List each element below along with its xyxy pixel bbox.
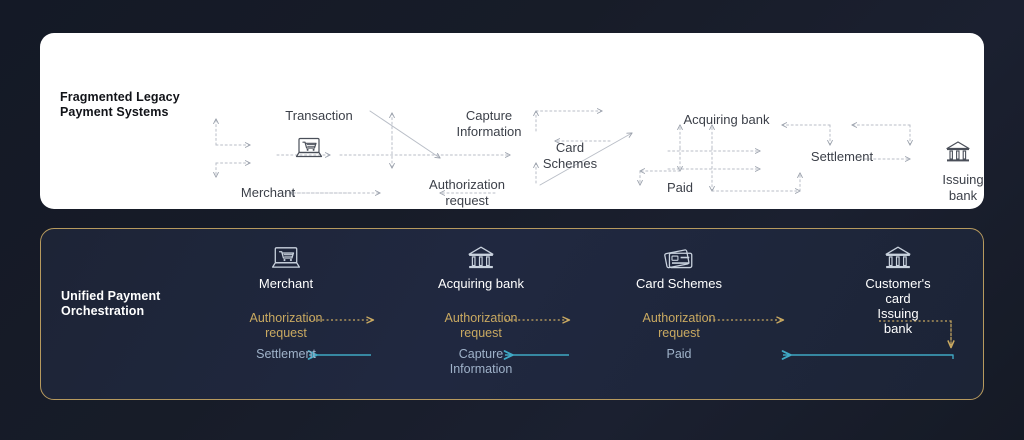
unified-orchestration-panel: Unified Payment Orchestration (40, 228, 984, 400)
unified-column-card-schemes: Card Schemes (604, 241, 754, 291)
unified-label-card-schemes: Card Schemes (604, 276, 754, 291)
unified-column-merchant: Merchant (211, 241, 361, 291)
diagram-canvas: Fragmented Legacy Payment Systems (0, 0, 1024, 440)
legacy-node-acquiring-bank: Acquiring bank (669, 112, 784, 128)
cards-icon (604, 241, 754, 271)
unified-column-issuing-bank: Customer's card Issuing bank (823, 241, 973, 336)
unified-column-acquiring-bank: Acquiring bank (406, 241, 556, 291)
legacy-node-card-schemes: Card Schemes (530, 140, 610, 171)
unified-return-card-schemes: Paid (604, 347, 754, 362)
unified-forward-card-schemes: Authorization request (604, 311, 754, 341)
legacy-node-capture-information: Capture Information (434, 108, 544, 139)
issuing-bank-icon (945, 140, 971, 169)
unified-return-acquiring-bank: Capture Information (406, 347, 556, 377)
unified-label-issuing-bank: Customer's card Issuing bank (823, 276, 973, 336)
legacy-node-issuing-bank: Issuing bank (933, 172, 993, 203)
unified-forward-merchant: Authorization request (211, 311, 361, 341)
unified-label-acquiring-bank: Acquiring bank (406, 276, 556, 291)
unified-panel-title: Unified Payment Orchestration (61, 289, 201, 319)
laptop-cart-icon (211, 241, 361, 271)
unified-label-merchant: Merchant (211, 276, 361, 291)
merchant-laptop-cart-icon (295, 136, 323, 165)
legacy-node-authorization-request: Authorization request (412, 177, 522, 208)
legacy-node-merchant: Merchant (223, 185, 313, 201)
legacy-panel-title: Fragmented Legacy Payment Systems (60, 90, 190, 120)
legacy-node-settlement: Settlement (797, 149, 887, 165)
bank-icon (406, 241, 556, 271)
unified-return-merchant: Settlement (211, 347, 361, 362)
legacy-node-transaction: Transaction (264, 108, 374, 124)
legacy-node-paid: Paid (655, 180, 705, 196)
bank-icon (823, 241, 973, 271)
legacy-systems-panel: Fragmented Legacy Payment Systems (40, 33, 984, 209)
unified-forward-acquiring-bank: Authorization request (406, 311, 556, 341)
